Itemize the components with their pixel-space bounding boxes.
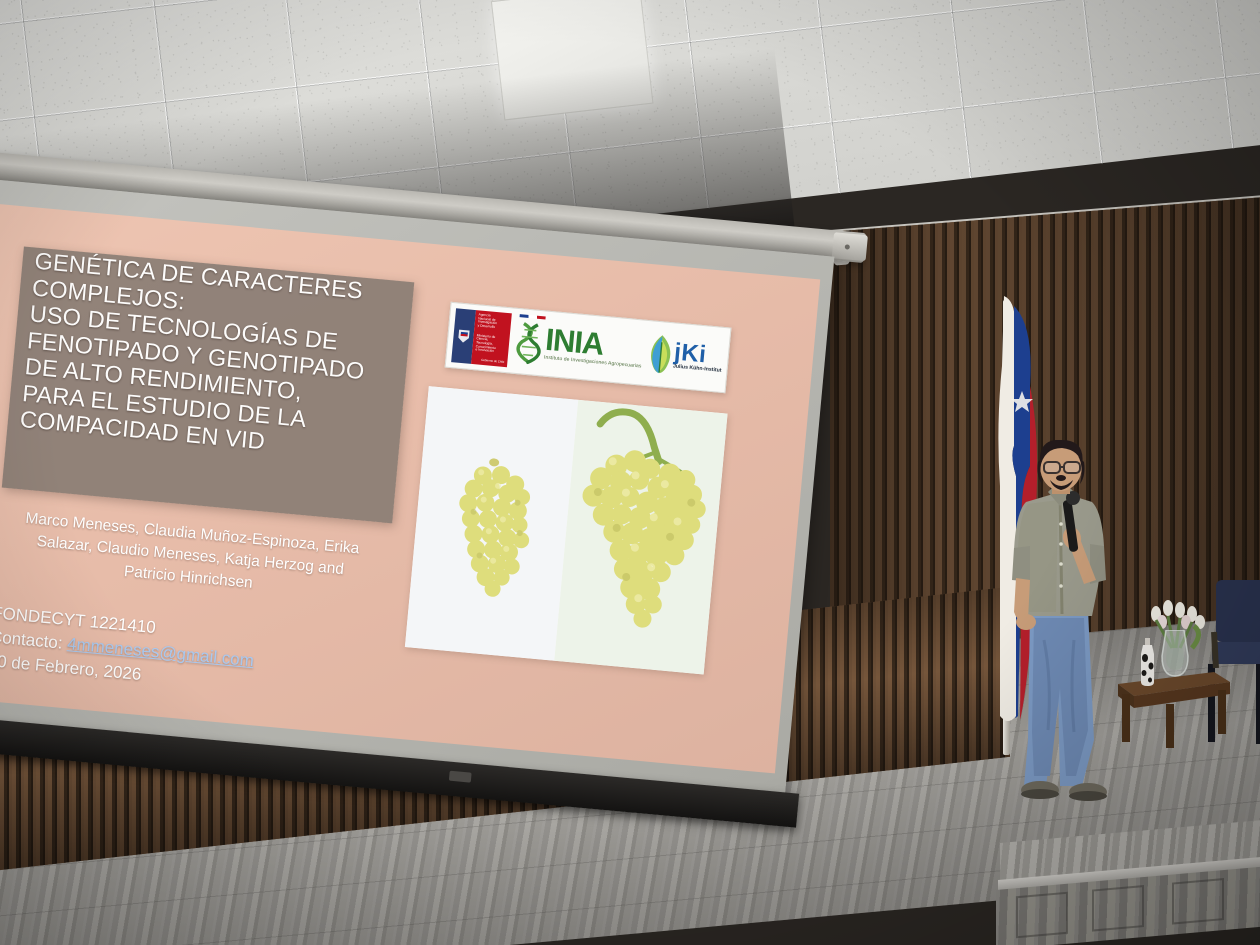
slide-footer: FONDECYT 1221410 Contacto: 4mmeneses@gma… <box>0 601 412 712</box>
logo-bar: Agencia Nacional de Investigación y Desa… <box>445 302 732 394</box>
wooden-side-table <box>1118 668 1230 748</box>
jki-logo: jKi Julius Kühn-Institut <box>646 333 724 380</box>
inia-wordmark: INIA Instituto de Investigaciones Agrope… <box>544 327 645 369</box>
glass-vase <box>1155 630 1195 678</box>
compact-cluster-image <box>405 386 578 661</box>
presenter <box>1000 440 1130 810</box>
screen-pull-knob <box>449 771 472 783</box>
contact-label: Contacto: <box>0 627 63 653</box>
anid-logo: Agencia Nacional de Investigación y Desa… <box>451 308 512 367</box>
projection-screen: GENÉTICA DE CARACTERES COMPLEJOS: USO DE… <box>0 178 834 814</box>
inia-logo: INIA Instituto de Investigaciones Agrope… <box>512 318 647 376</box>
step-panel <box>1092 885 1144 932</box>
slide-title-box: GENÉTICA DE CARACTERES COMPLEJOS: USO DE… <box>2 246 414 523</box>
chile-flag-bar-icon <box>520 314 546 319</box>
jki-wordmark: jKi Julius Kühn-Institut <box>673 342 724 374</box>
presentation-slide: GENÉTICA DE CARACTERES COMPLEJOS: USO DE… <box>0 203 820 773</box>
grape-cluster-photo <box>405 386 728 674</box>
ceiling-light-panel <box>491 0 654 120</box>
step-panel <box>1172 878 1224 925</box>
water-bottle <box>1139 638 1156 686</box>
slide-authors: Marco Meneses, Claudia Muñoz-Espinoza, E… <box>0 505 392 607</box>
anid-logo-text: Agencia Nacional de Investigación y Desa… <box>471 310 512 367</box>
screen-housing-endcap <box>832 232 868 261</box>
inia-helix-icon <box>512 318 546 367</box>
jki-leaf-flame-icon <box>646 333 676 375</box>
step-panel <box>1016 892 1068 939</box>
presentation-room-photo: GENÉTICA DE CARACTERES COMPLEJOS: USO DE… <box>0 0 1260 945</box>
loose-cluster-image <box>554 400 727 675</box>
